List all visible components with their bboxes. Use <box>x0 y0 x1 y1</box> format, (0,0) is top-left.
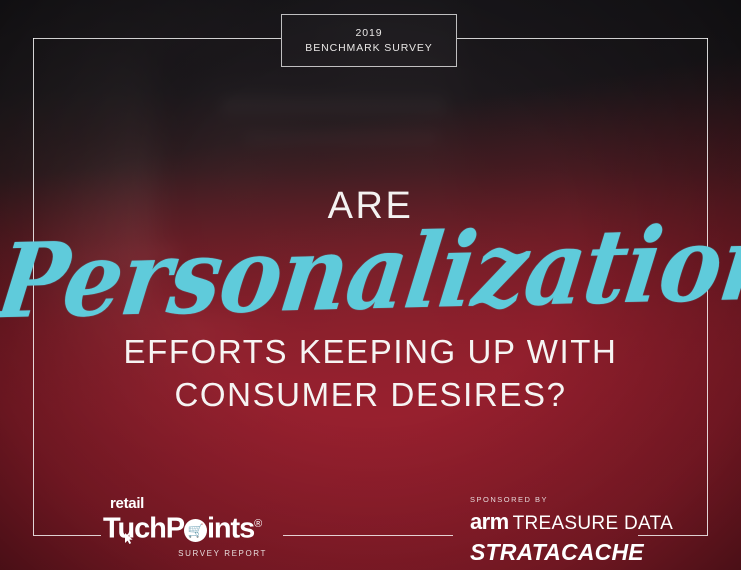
frame-line-bottom-middle <box>283 535 453 536</box>
logo-letters-ints: ints <box>207 513 254 545</box>
logo-letter-t: T <box>103 513 117 545</box>
retail-touchpoints-logo: retail TuchP 🛒 ints® SURVEY REPORT <box>103 496 283 558</box>
logo-tagline: SURVEY REPORT <box>103 549 283 558</box>
report-cover: 2019 BENCHMARK SURVEY ARE Personalizatio… <box>0 0 741 570</box>
headline-subline-block: EFFORTS KEEPING UP WITH CONSUMER DESIRES… <box>0 330 741 416</box>
badge-subtitle: BENCHMARK SURVEY <box>305 41 432 56</box>
headline-personalization: Personalization <box>0 204 741 340</box>
headline-script-wrap: Personalization <box>0 220 741 324</box>
headline-block: ARE Personalization EFFORTS KEEPING UP W… <box>0 186 741 416</box>
logo-word-touchpoints: TuchP 🛒 ints® <box>103 509 283 544</box>
sponsor-stratacache: STRATACACHE <box>470 539 680 565</box>
benchmark-survey-badge: 2019 BENCHMARK SURVEY <box>281 14 457 67</box>
cursor-arrow-icon <box>125 533 134 544</box>
sponsored-by-label: SPONSORED BY <box>470 495 680 505</box>
frame-line-bottom-left <box>33 535 101 536</box>
sponsor-treasure-data: armTREASURE DATA <box>470 511 680 536</box>
badge-year: 2019 <box>356 26 383 41</box>
frame-line-top-left <box>33 38 281 39</box>
sponsors-block: SPONSORED BY armTREASURE DATA STRATACACH… <box>470 495 680 565</box>
headline-line-4: CONSUMER DESIRES? <box>0 373 741 416</box>
frame-line-top-right <box>457 38 708 39</box>
treasure-data-wordmark: TREASURE DATA <box>513 513 674 534</box>
arm-brand-wordmark: arm <box>470 509 509 534</box>
shopping-cart-icon: 🛒 <box>184 519 207 542</box>
registered-trademark-icon: ® <box>254 518 262 530</box>
